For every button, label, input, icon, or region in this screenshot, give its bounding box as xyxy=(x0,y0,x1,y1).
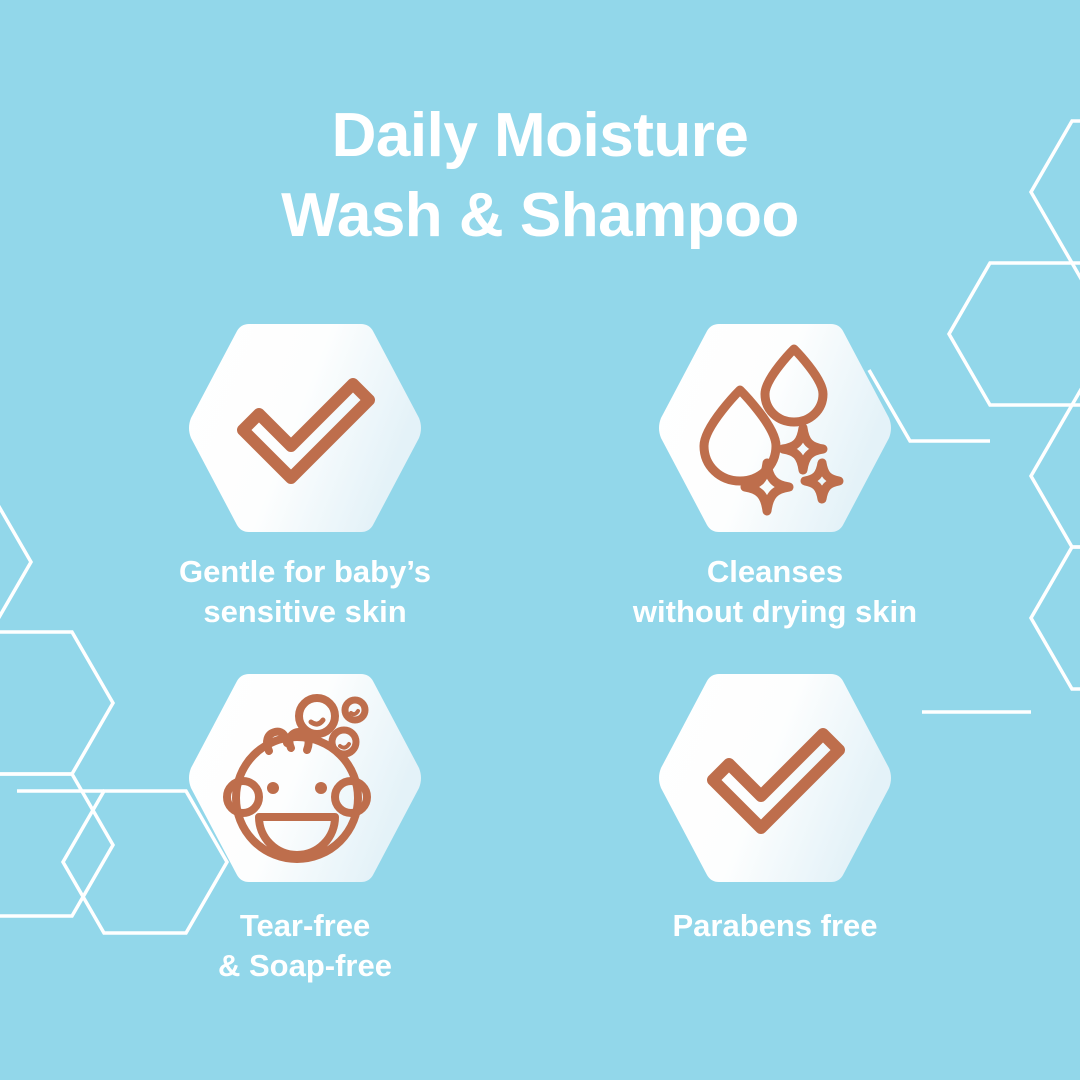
feature-item-parabens-free: Parabens free xyxy=(555,670,995,946)
hex-tile xyxy=(187,670,423,886)
feature-item-gentle: Gentle for baby’s sensitive skin xyxy=(85,320,525,632)
baby-eye-right-icon xyxy=(315,782,327,794)
feature-label: Gentle for baby’s sensitive skin xyxy=(85,552,525,632)
feature-item-tear-free: Tear-free & Soap-free xyxy=(85,670,525,986)
feature-label: Parabens free xyxy=(555,906,995,946)
feature-label: Cleanses without drying skin xyxy=(555,552,995,632)
baby-eye-left-icon xyxy=(267,782,279,794)
feature-label: Tear-free & Soap-free xyxy=(85,906,525,986)
hex-tile xyxy=(657,670,893,886)
page-title: Daily Moisture Wash & Shampoo xyxy=(0,96,1080,256)
feature-grid: Gentle for baby’s sensitive skin xyxy=(0,320,1080,1020)
product-benefits-poster: Daily Moisture Wash & Shampoo xyxy=(0,0,1080,1080)
title-line-1: Daily Moisture xyxy=(0,96,1080,176)
hex-tile xyxy=(657,320,893,536)
feature-item-cleanses: Cleanses without drying skin xyxy=(555,320,995,632)
title-line-2: Wash & Shampoo xyxy=(0,176,1080,256)
hex-tile xyxy=(187,320,423,536)
